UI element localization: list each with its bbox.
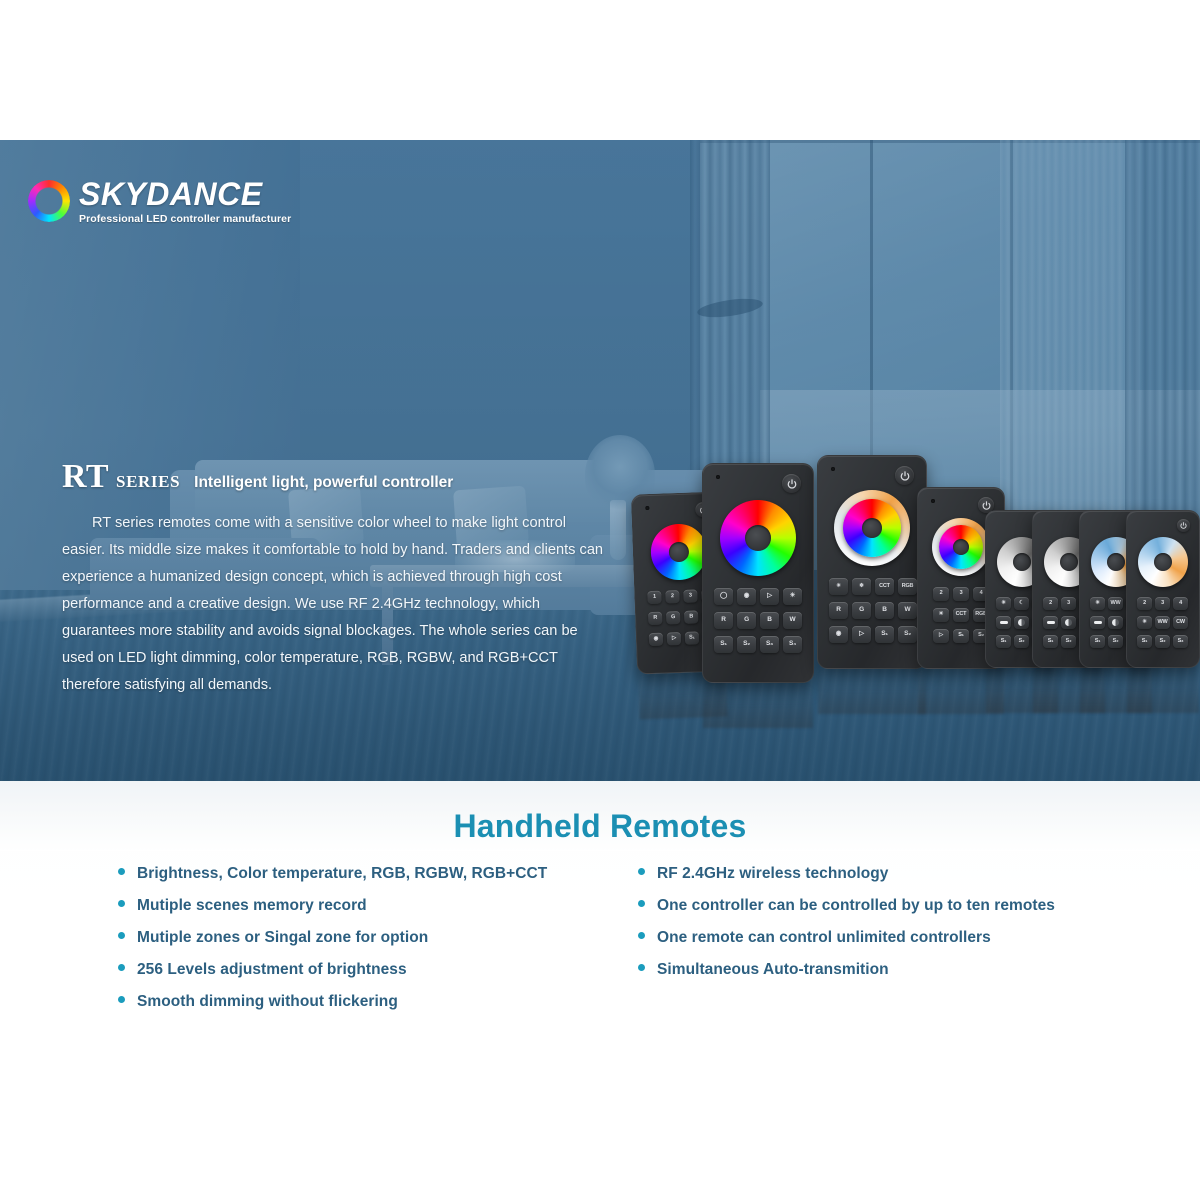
remote-product-group: 1 2 3 4 R G B W ◉ ▷ S₁ S₂ ◯ ◉ ▷ ☀	[612, 455, 1172, 715]
feature-item: Simultaneous Auto-transmition	[638, 961, 1158, 993]
zone-button-2[interactable]: 2	[1043, 597, 1058, 610]
rgb-button[interactable]: RGB	[898, 578, 917, 595]
feature-label: Mutiple scenes memory record	[137, 897, 367, 915]
feature-label: RF 2.4GHz wireless technology	[657, 865, 888, 883]
zone-button-2[interactable]: 2	[1137, 597, 1152, 610]
feature-item: RF 2.4GHz wireless technology	[638, 865, 1158, 897]
hero-banner: SKYDANCE Professional LED controller man…	[0, 140, 1200, 781]
color-wheel[interactable]	[650, 523, 708, 581]
mid-level-icon	[1065, 619, 1072, 626]
section-title: Handheld Remotes	[0, 808, 1200, 845]
zone-button-2[interactable]: 2	[665, 590, 679, 603]
scene-button-s1[interactable]: S₁	[875, 626, 894, 643]
wheel-hub[interactable]	[1060, 553, 1078, 571]
scene-button-s2[interactable]: S₂	[737, 636, 756, 653]
zone-button-1[interactable]: 1	[647, 591, 661, 604]
remote-reflection	[818, 668, 926, 714]
color-wheel-cct-outer[interactable]	[932, 518, 990, 576]
feature-label: Brightness, Color temperature, RGB, RGBW…	[137, 865, 547, 883]
scene-button-s1[interactable]: S₁	[996, 635, 1011, 648]
scene-button-s2[interactable]: S₂	[898, 626, 917, 643]
features-left-column: Brightness, Color temperature, RGB, RGBW…	[118, 865, 638, 1025]
features-right-column: RF 2.4GHz wireless technology One contro…	[638, 865, 1158, 1025]
brightness-icon[interactable]: ☀	[1090, 597, 1105, 610]
cct-button[interactable]: CCT	[875, 578, 894, 595]
red-button[interactable]: R	[648, 612, 662, 625]
remote-rgbcct[interactable]: ☀ ❄ CCT RGB R G B W ◉ ▷ S₁ S₂	[817, 455, 927, 669]
low-level-icon	[1094, 621, 1102, 624]
brightness-mid-button[interactable]	[1108, 616, 1123, 629]
feature-label: Smooth dimming without flickering	[137, 993, 398, 1011]
brightness-low-button[interactable]	[1043, 616, 1058, 629]
feature-item: Smooth dimming without flickering	[118, 993, 638, 1025]
hero-title-sub: Intelligent light, powerful controller	[194, 474, 453, 492]
scene-button-s2[interactable]: S₂	[1155, 635, 1170, 648]
wheel-hub[interactable]	[1107, 553, 1125, 571]
low-level-icon	[1000, 621, 1008, 624]
scene-button-s1[interactable]: S₁	[1090, 635, 1105, 648]
scene-button-s2[interactable]: S₂	[1061, 635, 1076, 648]
feature-item: Brightness, Color temperature, RGB, RGBW…	[118, 865, 638, 897]
bullet-icon	[638, 964, 645, 971]
power-button[interactable]	[782, 474, 801, 493]
hero-copy: RT SERIES Intelligent light, powerful co…	[62, 458, 607, 699]
color-wheel[interactable]	[720, 500, 796, 576]
zone-button-2[interactable]: 2	[933, 587, 949, 601]
rgb-mode-icon[interactable]: ◉	[737, 588, 756, 605]
wheel-hub[interactable]	[862, 518, 882, 538]
wheel-hub[interactable]	[1154, 553, 1172, 571]
bullet-icon	[638, 932, 645, 939]
brightness-icon[interactable]: ☀	[783, 588, 802, 605]
brand-name: SKYDANCE	[79, 178, 291, 210]
scene-button-s2[interactable]: S₂	[1014, 635, 1029, 648]
blue-button[interactable]: B	[684, 610, 698, 623]
low-level-icon	[1047, 621, 1055, 624]
brightness-mid-button[interactable]	[1014, 616, 1029, 629]
white-button[interactable]: W	[783, 612, 802, 629]
brand-tagline: Professional LED controller manufacturer	[79, 214, 291, 225]
ir-indicator	[716, 475, 720, 479]
zone-button-3[interactable]: 3	[683, 589, 697, 602]
feature-item: One remote can control unlimited control…	[638, 929, 1158, 961]
hero-title-main: RT	[62, 458, 109, 496]
scene-button-s2[interactable]: S₂	[1108, 635, 1123, 648]
mid-level-icon	[1112, 619, 1119, 626]
bullet-icon	[118, 964, 125, 971]
feature-label: 256 Levels adjustment of brightness	[137, 961, 407, 979]
feature-item: Mutiple zones or Singal zone for option	[118, 929, 638, 961]
play-icon[interactable]: ▷	[852, 626, 871, 643]
remote-reflection	[1127, 667, 1199, 713]
brightness-low-button[interactable]	[1090, 616, 1105, 629]
ir-indicator	[645, 506, 649, 510]
feature-label: One controller can be controlled by up t…	[657, 897, 1055, 915]
scene-button-s4[interactable]: S₄	[783, 636, 802, 653]
scene-button-s1[interactable]: S₁	[714, 636, 733, 653]
brightness-mid-button[interactable]	[1061, 616, 1076, 629]
rainbow-ring-icon	[28, 180, 70, 222]
wheel-hub[interactable]	[669, 542, 690, 563]
color-wheel-rgb-inner[interactable]	[843, 499, 901, 557]
brightness-icon[interactable]: ☀	[1137, 616, 1152, 629]
brightness-ring-icon[interactable]: ◯	[714, 588, 733, 605]
warm-white-button[interactable]: WW	[1108, 597, 1123, 610]
green-button[interactable]: G	[666, 611, 680, 624]
bullet-icon	[118, 868, 125, 875]
zone-button-4[interactable]: 4	[1173, 597, 1188, 610]
green-button[interactable]: G	[737, 612, 756, 629]
play-icon[interactable]: ▷	[760, 588, 779, 605]
zone-button-3[interactable]: 3	[1155, 597, 1170, 610]
feature-item: One controller can be controlled by up t…	[638, 897, 1158, 929]
wheel-hub[interactable]	[1013, 553, 1031, 571]
warm-white-button[interactable]: WW	[1155, 616, 1170, 629]
green-button[interactable]: G	[852, 602, 871, 619]
ir-indicator	[931, 499, 935, 503]
cct-button[interactable]: CCT	[953, 608, 969, 622]
hero-title-series: SERIES	[116, 472, 180, 492]
zone-button-3[interactable]: 3	[953, 587, 969, 601]
scene-button-s1[interactable]: S₁	[953, 629, 969, 643]
wheel-hub[interactable]	[953, 539, 969, 555]
hero-heading: RT SERIES Intelligent light, powerful co…	[62, 458, 607, 496]
remote-rgbw-scene[interactable]: ◯ ◉ ▷ ☀ R G B W S₁ S₂ S₃ S₄	[702, 463, 814, 683]
play-icon[interactable]: ▷	[933, 629, 949, 643]
scene-button-s3[interactable]: S₃	[760, 636, 779, 653]
remote-cct-2[interactable]: 2 3 4 ☀ WW CW S₁ S₂ S₃	[1126, 510, 1200, 668]
zone-button-3[interactable]: 3	[1061, 597, 1076, 610]
cool-white-button[interactable]: CW	[1173, 616, 1188, 629]
scene-button-s1[interactable]: S₁	[1137, 635, 1152, 648]
blue-button[interactable]: B	[875, 602, 894, 619]
brand-logo-text: SKYDANCE Professional LED controller man…	[79, 178, 291, 225]
scene-button-s1[interactable]: S₁	[1043, 635, 1058, 648]
brand-logo: SKYDANCE Professional LED controller man…	[28, 178, 291, 225]
bullet-icon	[118, 900, 125, 907]
feature-item: Mutiple scenes memory record	[118, 897, 638, 929]
scene-button-s3[interactable]: S₃	[1173, 635, 1188, 648]
scene-button-s1[interactable]: S₁	[685, 631, 699, 644]
remote-reflection	[703, 682, 813, 728]
color-wheel-rgb-inner[interactable]	[939, 525, 983, 569]
mid-level-icon	[1018, 619, 1025, 626]
feature-label: One remote can control unlimited control…	[657, 929, 991, 947]
wheel-hub[interactable]	[745, 525, 771, 551]
bullet-icon	[638, 868, 645, 875]
brightness-icon[interactable]: ☀	[829, 578, 848, 595]
ir-indicator	[831, 467, 835, 471]
features-section: Handheld Remotes Brightness, Color tempe…	[0, 781, 1200, 1200]
color-wheel-cct-outer[interactable]	[834, 490, 910, 566]
feature-item: 256 Levels adjustment of brightness	[118, 961, 638, 993]
brightness-low-button[interactable]	[996, 616, 1011, 629]
play-icon[interactable]: ▷	[667, 632, 681, 645]
snowflake-icon[interactable]: ❄	[852, 578, 871, 595]
power-button[interactable]	[1177, 519, 1190, 532]
power-button[interactable]	[895, 466, 914, 485]
rgb-mode-icon[interactable]: ◉	[829, 626, 848, 643]
feature-label: Simultaneous Auto-transmition	[657, 961, 889, 979]
red-button[interactable]: R	[714, 612, 733, 629]
bullet-icon	[118, 932, 125, 939]
hero-paragraph: RT series remotes come with a sensitive …	[62, 510, 607, 699]
bullet-icon	[638, 900, 645, 907]
feature-label: Mutiple zones or Singal zone for option	[137, 929, 428, 947]
brightness-icon[interactable]: ☀	[933, 608, 949, 622]
red-button[interactable]: R	[829, 602, 848, 619]
blue-button[interactable]: B	[760, 612, 779, 629]
rgb-mode-icon[interactable]: ◉	[649, 633, 663, 646]
night-mode-icon[interactable]: ☾	[1014, 597, 1029, 610]
brightness-icon[interactable]: ☀	[996, 597, 1011, 610]
cct-wheel[interactable]	[1138, 537, 1188, 587]
white-button[interactable]: W	[898, 602, 917, 619]
bullet-icon	[118, 996, 125, 1003]
features-columns: Brightness, Color temperature, RGB, RGBW…	[0, 865, 1200, 1025]
